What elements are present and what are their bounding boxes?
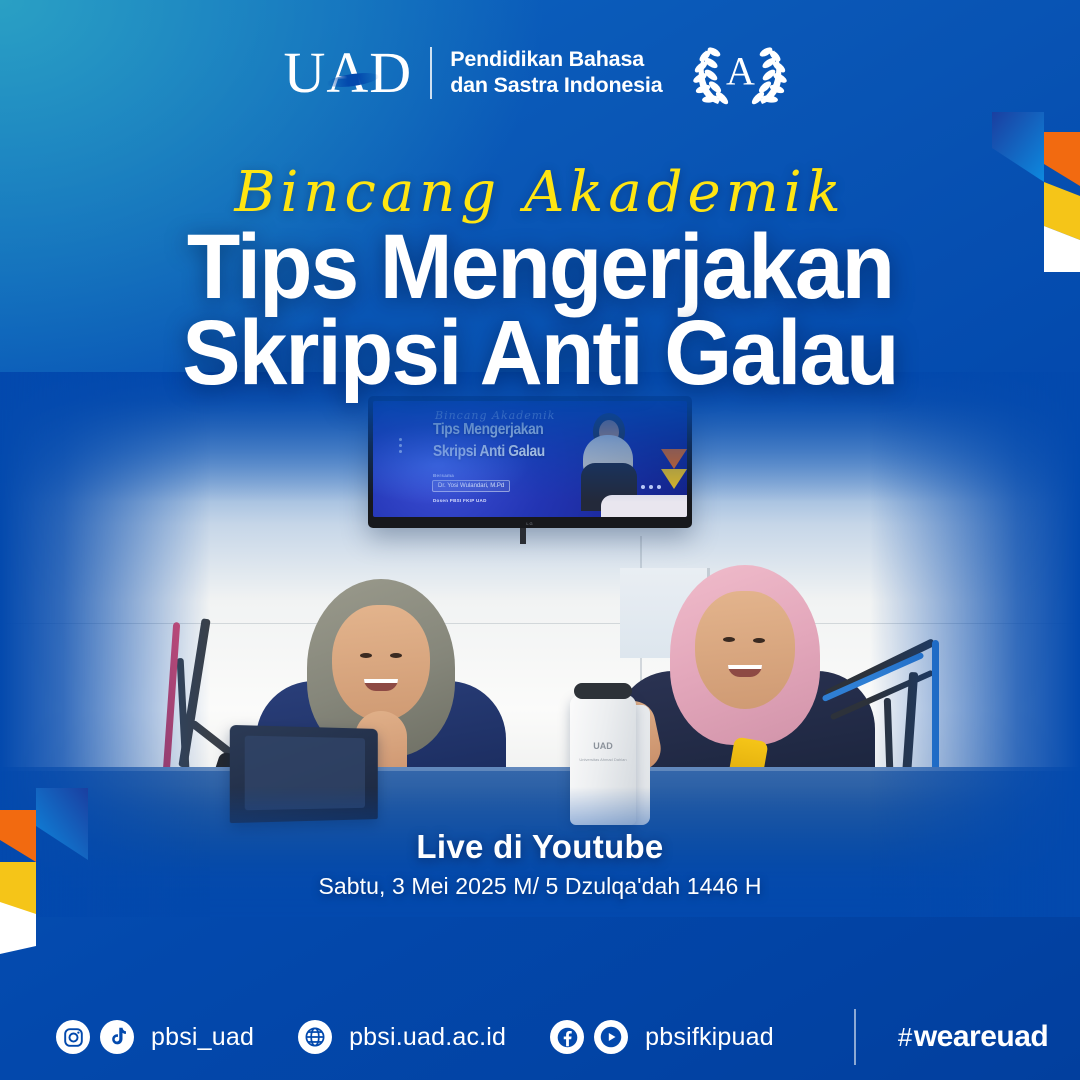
footer-bar: pbsi_uad pbsi.uad.ac.id <box>0 994 1080 1080</box>
header-branding: UAD Pendidikan Bahasa dan Sastra Indones… <box>0 34 1080 112</box>
program-name: Pendidikan Bahasa dan Sastra Indonesia <box>450 47 662 99</box>
globe-icon[interactable] <box>298 1020 332 1054</box>
title-line2: Skripsi Anti Galau <box>27 310 1053 397</box>
accreditation-badge: A <box>684 34 796 112</box>
event-info: Live di Youtube Sabtu, 3 Mei 2025 M/ 5 D… <box>0 828 1080 900</box>
website-label: pbsi.uad.ac.id <box>349 1023 506 1052</box>
footer-group-facebook-youtube[interactable]: pbsifkipuad <box>550 1020 774 1054</box>
hashtag-symbol: # <box>898 1022 912 1052</box>
tumbler-subtext: Universitas Ahmad Dahlan <box>570 757 636 762</box>
header-divider <box>430 47 432 99</box>
facebook-icon[interactable] <box>550 1020 584 1054</box>
uad-logo: UAD <box>284 44 413 102</box>
social-handle-label: pbsi_uad <box>151 1023 254 1052</box>
youtube-icon[interactable] <box>594 1020 628 1054</box>
campaign-hashtag: #weareuad <box>898 1020 1048 1054</box>
footer-group-social[interactable]: pbsi_uad <box>56 1020 254 1054</box>
program-name-line1: Pendidikan Bahasa <box>450 47 662 73</box>
hashtag-text: weareuad <box>914 1020 1048 1053</box>
tv-mount <box>520 528 526 544</box>
event-heading: Live di Youtube <box>0 828 1080 866</box>
title-line1: Tips Mengerjakan <box>27 224 1053 311</box>
program-name-line2: dan Sastra Indonesia <box>450 73 662 99</box>
instagram-icon[interactable] <box>56 1020 90 1054</box>
facebook-youtube-label: pbsifkipuad <box>645 1023 774 1052</box>
accreditation-grade: A <box>726 48 755 95</box>
tumbler-brand: UAD <box>570 741 636 751</box>
footer-group-website[interactable]: pbsi.uad.ac.id <box>298 1020 506 1054</box>
face-right <box>695 591 795 709</box>
uad-logo-text: UAD <box>284 40 413 105</box>
tv-brand-label: LG <box>526 521 533 526</box>
footer-divider <box>854 1009 856 1065</box>
tiktok-icon[interactable] <box>100 1020 134 1054</box>
title-script: Bincang Akademik <box>0 160 1080 225</box>
poster-canvas: Bincang Akademik Tips Mengerjakan Skrips… <box>0 0 1080 1080</box>
face-left <box>332 605 430 721</box>
event-date: Sabtu, 3 Mei 2025 M/ 5 Dzulqa'dah 1446 H <box>0 873 1080 900</box>
